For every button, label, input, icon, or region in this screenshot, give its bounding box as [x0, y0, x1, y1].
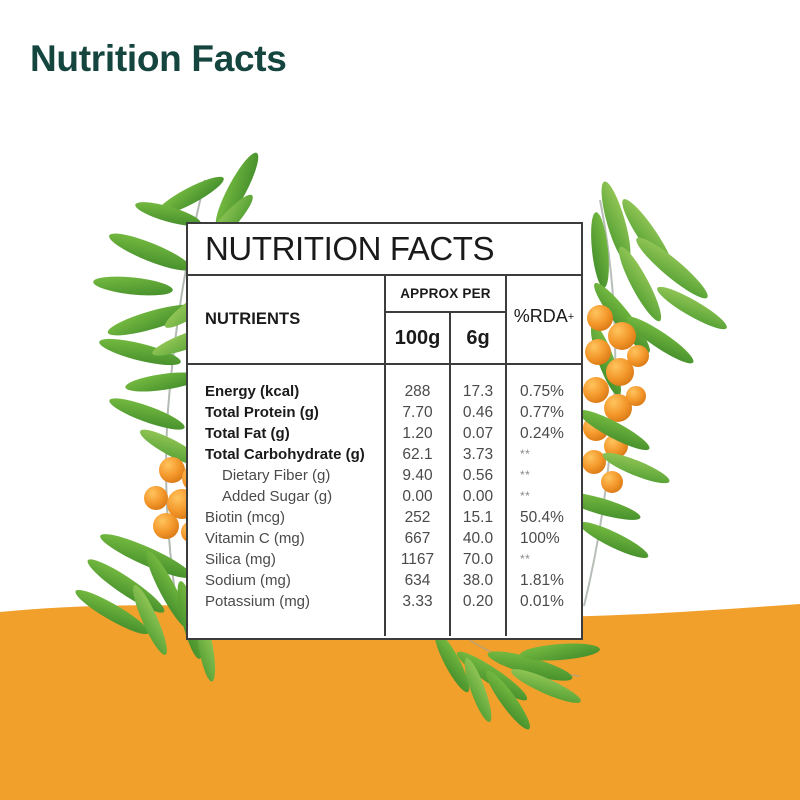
nutrient-rda-footnote: ** [520, 465, 581, 486]
nutrient-rda-footnote: ** [520, 549, 581, 570]
nutrient-value-6g: 0.00 [451, 486, 505, 507]
nutrient-rda-footnote: ** [520, 486, 581, 507]
nutrient-rda-value: 0.75% [520, 381, 581, 402]
nutrient-value-100g: 0.00 [386, 486, 449, 507]
nutrient-name: Silica (mg) [205, 549, 384, 570]
header-serving-6g-cell: 6g [451, 313, 505, 363]
header-serving-100g-cell: 100g [386, 313, 451, 363]
column-nutrient-names: Energy (kcal)Total Protein (g)Total Fat … [188, 365, 386, 636]
table-header-row: NUTRIENTS APPROX PER 100g 6g %RDA+ [188, 276, 581, 365]
nutrient-name: Dietary Fiber (g) [205, 465, 384, 486]
nutrition-facts-page: Nutrition Facts [0, 0, 800, 800]
nutrient-value-100g: 62.1 [386, 444, 449, 465]
nutrient-value-6g: 3.73 [451, 444, 505, 465]
nutrient-rda-footnote: ** [520, 444, 581, 465]
nutrient-value-6g: 17.3 [451, 381, 505, 402]
nutrient-rda-value: 0.24% [520, 423, 581, 444]
nutrient-value-6g: 0.46 [451, 402, 505, 423]
right-branch-group [557, 179, 730, 606]
header-rda-superscript: + [568, 311, 574, 323]
nutrient-value-100g: 1167 [386, 549, 449, 570]
nutrient-value-100g: 1.20 [386, 423, 449, 444]
nutrition-facts-table: NUTRITION FACTS NUTRIENTS APPROX PER 100… [186, 222, 583, 640]
nutrient-name: Total Protein (g) [205, 402, 384, 423]
nutrient-value-100g: 288 [386, 381, 449, 402]
header-rda-cell: %RDA+ [507, 276, 581, 363]
nutrient-value-100g: 7.70 [386, 402, 449, 423]
nutrient-value-100g: 3.33 [386, 591, 449, 612]
nutrient-value-6g: 38.0 [451, 570, 505, 591]
header-nutrients-label: NUTRIENTS [205, 310, 300, 329]
nutrient-name: Biotin (mcg) [205, 507, 384, 528]
table-title-band: NUTRITION FACTS [188, 224, 581, 276]
nutrient-rda-value: 0.01% [520, 591, 581, 612]
nutrient-rda-value: 50.4% [520, 507, 581, 528]
nutrient-value-100g: 9.40 [386, 465, 449, 486]
bottom-foliage-group [429, 628, 600, 733]
nutrient-value-6g: 0.56 [451, 465, 505, 486]
header-rda-label: %RDA [514, 306, 568, 327]
nutrient-name: Total Carbohydrate (g) [205, 444, 384, 465]
nutrient-name: Total Fat (g) [205, 423, 384, 444]
header-nutrients-cell: NUTRIENTS [188, 276, 386, 363]
column-rda: 0.75%0.77%0.24%******50.4%100%**1.81%0.0… [507, 365, 581, 636]
nutrient-value-6g: 15.1 [451, 507, 505, 528]
column-per-100g: 2887.701.2062.19.400.0025266711676343.33 [386, 365, 451, 636]
nutrient-name: Potassium (mg) [205, 591, 384, 612]
table-title: NUTRITION FACTS [205, 230, 494, 268]
nutrient-name: Added Sugar (g) [205, 486, 384, 507]
nutrient-value-100g: 634 [386, 570, 449, 591]
page-title: Nutrition Facts [30, 38, 287, 80]
nutrient-value-6g: 70.0 [451, 549, 505, 570]
table-body: Energy (kcal)Total Protein (g)Total Fat … [188, 365, 581, 636]
header-approx-per-cell: APPROX PER [386, 276, 505, 313]
header-approx-group: APPROX PER 100g 6g [386, 276, 507, 363]
nutrient-value-100g: 252 [386, 507, 449, 528]
nutrient-value-6g: 0.07 [451, 423, 505, 444]
nutrient-value-6g: 0.20 [451, 591, 505, 612]
header-approx-per-label: APPROX PER [400, 286, 491, 301]
nutrient-name: Vitamin C (mg) [205, 528, 384, 549]
nutrient-value-100g: 667 [386, 528, 449, 549]
header-serving-100g-label: 100g [395, 327, 441, 350]
header-serving-6g-label: 6g [466, 327, 489, 350]
header-serving-columns: 100g 6g [386, 313, 505, 363]
nutrient-name: Sodium (mg) [205, 570, 384, 591]
nutrient-rda-value: 1.81% [520, 570, 581, 591]
nutrient-rda-value: 0.77% [520, 402, 581, 423]
nutrient-name: Energy (kcal) [205, 381, 384, 402]
nutrient-rda-value: 100% [520, 528, 581, 549]
column-per-6g: 17.30.460.073.730.560.0015.140.070.038.0… [451, 365, 507, 636]
nutrient-value-6g: 40.0 [451, 528, 505, 549]
